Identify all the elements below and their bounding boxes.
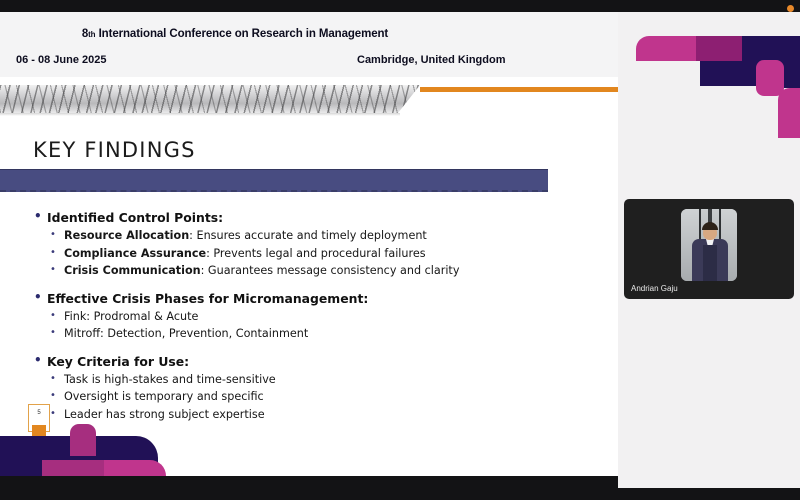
decor-shape-magenta-pill — [756, 60, 784, 96]
title-accent-bar — [0, 169, 548, 192]
bullet-desc: Oversight is temporary and specific — [64, 390, 264, 403]
bullet-item: Task is high-stakes and time-sensitive — [32, 371, 592, 389]
bullet-item: Leader has strong subject expertise — [32, 406, 592, 424]
orange-divider-rule — [420, 87, 618, 92]
decor-shape-magenta-corner — [778, 88, 800, 138]
header-photo-shadow — [0, 113, 400, 116]
bullet-group: Key Criteria for Use: Task is high-stake… — [32, 352, 592, 424]
bullet-item: Mitroff: Detection, Prevention, Containm… — [32, 325, 592, 343]
bullet-term: Compliance Assurance — [64, 247, 206, 260]
bullet-heading: Identified Control Points: — [32, 208, 592, 227]
bullet-desc: Leader has strong subject expertise — [64, 408, 265, 421]
window-titlebar — [0, 0, 800, 12]
bullet-group: Effective Crisis Phases for Micromanagem… — [32, 289, 592, 343]
conference-dates: 06 - 08 June 2025 — [16, 54, 107, 66]
conference-title-text: International Conference on Research in … — [95, 28, 388, 40]
bullet-desc: Mitroff: Detection, Prevention, Containm… — [64, 327, 308, 340]
decor-shape-plum-top — [696, 36, 742, 61]
bullet-term: Crisis Communication — [64, 264, 201, 277]
bullet-item: Fink: Prodromal & Acute — [32, 308, 592, 326]
slide-body: Identified Control Points: Resource Allo… — [32, 208, 592, 432]
bullet-heading: Effective Crisis Phases for Micromanagem… — [32, 289, 592, 308]
bullet-item: Compliance Assurance: Prevents legal and… — [32, 245, 592, 263]
bullet-heading: Key Criteria for Use: — [32, 352, 592, 371]
decor-shape-plum-bottom — [42, 460, 104, 476]
bullet-term: Resource Allocation — [64, 229, 189, 242]
page-title: KEY FINDINGS — [33, 138, 196, 162]
participant-tile[interactable]: Andrian Gaju — [624, 199, 794, 299]
bullet-desc: Fink: Prodromal & Acute — [64, 310, 198, 323]
recording-dot-icon — [787, 5, 794, 12]
bullet-item: Crisis Communication: Guarantees message… — [32, 262, 592, 280]
slide-number: 5 — [29, 410, 49, 416]
decor-shape-magenta-pill-bottom — [70, 424, 96, 456]
bullet-desc: Task is high-stakes and time-sensitive — [64, 373, 276, 386]
bullet-item: Oversight is temporary and specific — [32, 388, 592, 406]
participant-name: Andrian Gaju — [631, 284, 678, 293]
conference-title: 8th International Conference on Research… — [0, 28, 470, 40]
person-hair — [702, 222, 718, 230]
participant-video — [681, 209, 737, 281]
bullet-desc: : Guarantees message consistency and cla… — [201, 264, 460, 277]
slide-number-placeholder: 5 — [28, 404, 50, 432]
bullet-desc: : Prevents legal and procedural failures — [206, 247, 426, 260]
conference-location: Cambridge, United Kingdom — [357, 54, 506, 66]
bullet-desc: : Ensures accurate and timely deployment — [189, 229, 427, 242]
slide-header-band: 8th International Conference on Research… — [0, 12, 618, 77]
meeting-window: 8th International Conference on Research… — [0, 0, 800, 500]
header-photo-band — [0, 85, 420, 113]
person-vest — [703, 245, 717, 281]
presentation-slide[interactable]: 8th International Conference on Research… — [0, 12, 618, 476]
bullet-item: Resource Allocation: Ensures accurate an… — [32, 227, 592, 245]
decor-shape-magenta-bottom — [104, 460, 166, 476]
bullet-group: Identified Control Points: Resource Allo… — [32, 208, 592, 280]
